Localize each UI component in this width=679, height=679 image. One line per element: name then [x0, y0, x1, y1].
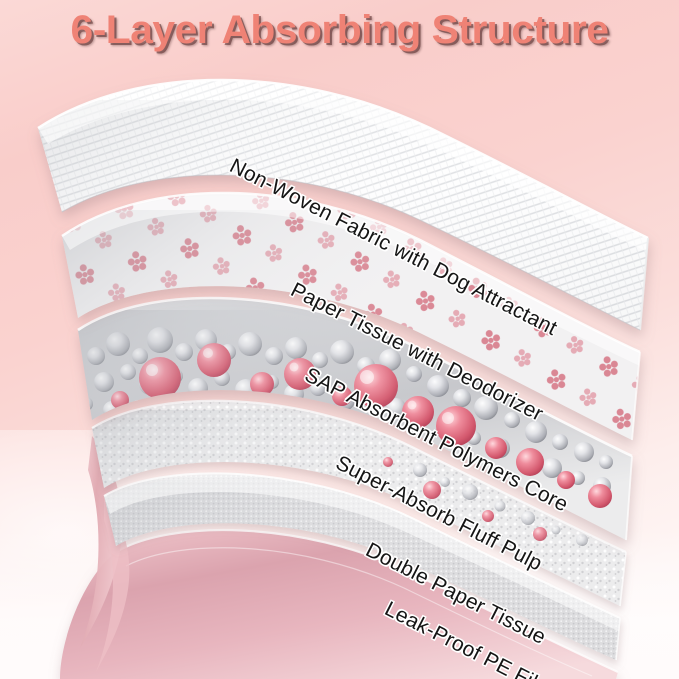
- infographic-canvas: 6-Layer Absorbing Structure Non-Woven Fa…: [0, 0, 679, 679]
- page-title: 6-Layer Absorbing Structure: [0, 8, 679, 53]
- layer-stack-illustration: [0, 0, 679, 679]
